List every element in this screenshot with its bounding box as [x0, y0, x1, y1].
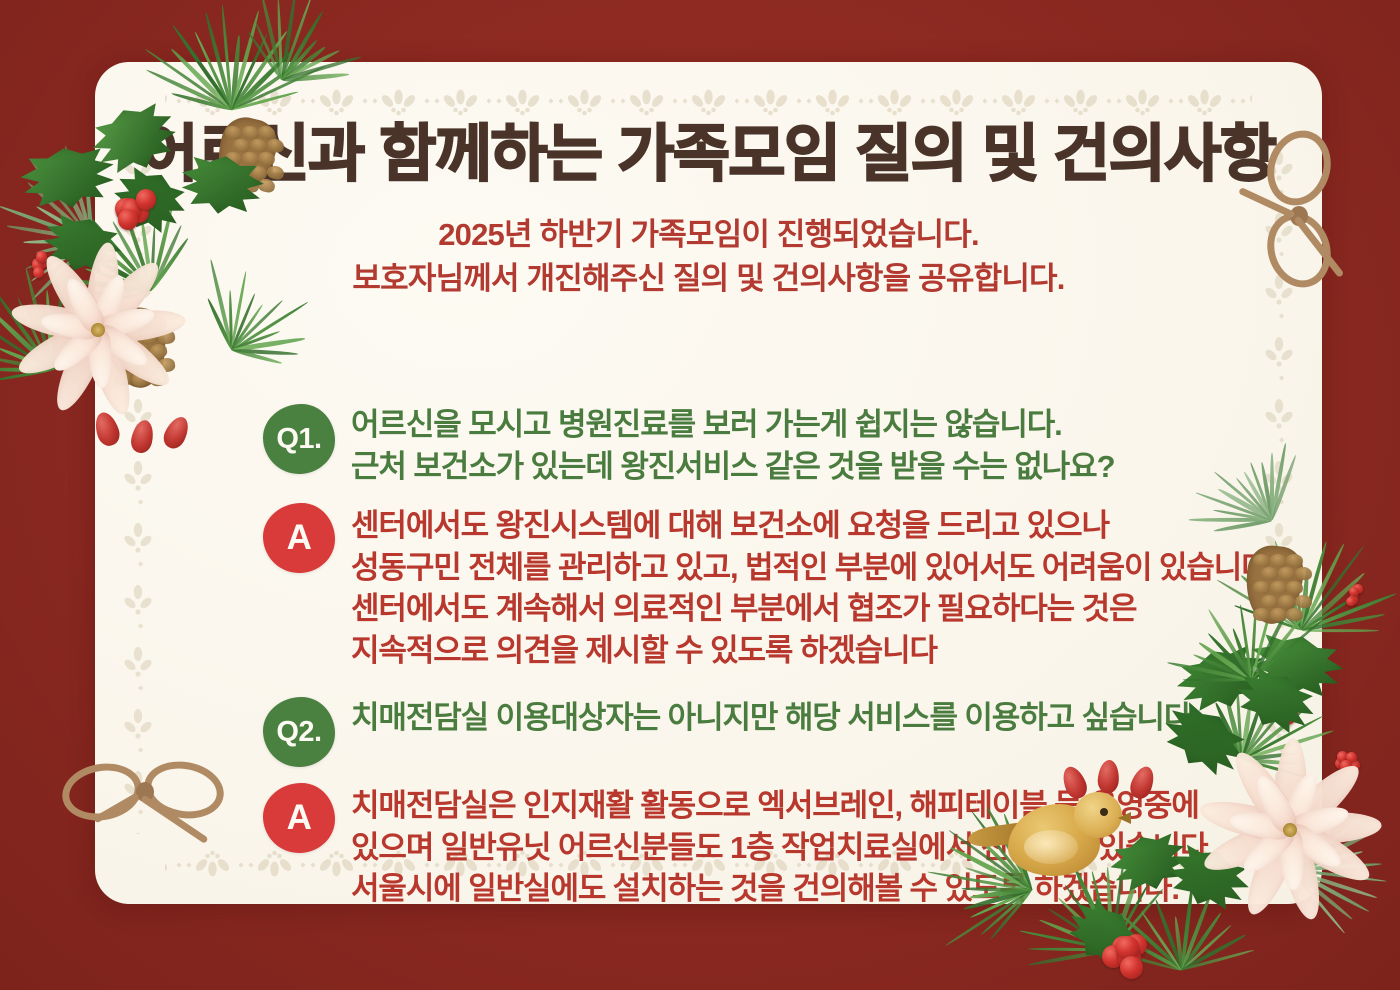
- pine-needle: [51, 317, 97, 372]
- content-card: 어르신과 함께하는 가족모임 질의 및 건의사항 2025년 하반기 가족모임이…: [95, 62, 1322, 904]
- qa-item-a1: A 센터에서도 왕진시스템에 대해 보건소에 요청을 드리고 있으나 성동구민 …: [263, 501, 1400, 671]
- pine-needle: [25, 239, 92, 270]
- holly-berry: [1118, 947, 1141, 970]
- pine-needle: [50, 276, 65, 370]
- pine-needle: [0, 308, 54, 372]
- pine-needle: [23, 238, 92, 244]
- pine-needle: [50, 299, 91, 371]
- pine-needle: [0, 356, 52, 372]
- poinsettia-petal: [9, 297, 101, 344]
- poster-root: 어르신과 함께하는 가족모임 질의 및 건의사항 2025년 하반기 가족모임이…: [0, 0, 1400, 990]
- pine-needle: [0, 204, 93, 241]
- qa-line: 센터에서도 왕진시스템에 대해 보건소에 요청을 드리고 있으나: [351, 505, 1400, 547]
- pine-needle: [63, 145, 94, 240]
- pine-needle: [36, 238, 93, 255]
- pine-needle: [50, 298, 75, 370]
- holly-berry: [1116, 936, 1139, 959]
- holly-berry: [1102, 945, 1125, 968]
- holly-berry: [34, 259, 45, 270]
- pine-needle: [1134, 942, 1183, 972]
- badge-a2: A: [263, 783, 335, 853]
- pine-needle: [1181, 934, 1247, 972]
- pine-needle: [36, 205, 94, 242]
- pine-needle: [84, 169, 94, 241]
- pine-needle: [7, 225, 92, 242]
- qa-item-q1: Q1. 어르신을 모시고 병원진료를 보러 가는게 쉽지는 않습니다. 근처 보…: [263, 400, 1400, 487]
- qa-line: 지속적으로 의견을 제시할 수 있도록 하겠습니다: [351, 630, 1400, 672]
- pine-needle: [16, 297, 53, 371]
- qa-text-q1: 어르신을 모시고 병원진료를 보러 가는게 쉽지는 않습니다. 근처 보건소가 …: [351, 400, 1400, 487]
- badge-a1: A: [263, 503, 335, 573]
- qa-line: 근처 보건소가 있는데 왕진서비스 같은 것을 받을 수는 없나요?: [351, 446, 1400, 488]
- qa-text-q2: 치매전담실 이용대상자는 아니지만 해당 서비스를 이용하고 싶습니다.: [351, 693, 1400, 739]
- subtitle: 2025년 하반기 가족모임이 진행되었습니다. 보호자님께서 개진해주신 질의…: [95, 213, 1322, 301]
- pine-needle: [30, 239, 92, 283]
- qa-line: 성동구민 전체를 관리하고 있고, 법적인 부분에 있어서도 어려움이 있습니다: [351, 547, 1400, 589]
- qa-line: 있으며 일반유닛 어르신분들도 1층 작업치료실에서 진행하고 있습니다.: [351, 827, 1400, 869]
- holly-berry: [36, 251, 47, 262]
- border-fleuron-top: [165, 86, 1252, 120]
- pine-needle: [1181, 949, 1254, 972]
- pine-needle: [24, 268, 53, 371]
- poinsettia-petal-inner: [39, 309, 100, 341]
- pine-needle: [29, 159, 93, 241]
- holly-berry: [1120, 956, 1143, 979]
- pine-needle: [0, 314, 53, 371]
- badge-q1: Q1.: [263, 404, 335, 474]
- pine-needle: [1028, 947, 1112, 951]
- pine-needle: [0, 367, 52, 372]
- pine-needle: [0, 345, 53, 371]
- qa-line: 치매전담실 이용대상자는 아니지만 해당 서비스를 이용하고 싶습니다.: [351, 697, 1400, 739]
- badge-q2: Q2.: [263, 697, 335, 767]
- holly-berry: [1117, 940, 1140, 963]
- qa-text-a1: 센터에서도 왕진시스템에 대해 보건소에 요청을 드리고 있으나 성동구민 전체…: [351, 501, 1400, 671]
- pine-needle: [0, 289, 54, 371]
- qa-line: 서울시에 일반실에도 설치하는 것을 건의해볼 수 있도록 하겠습니다.: [351, 868, 1400, 910]
- holly-berry: [32, 259, 43, 270]
- qa-line: 어르신을 모시고 병원진료를 보러 가는게 쉽지는 않습니다.: [351, 404, 1400, 446]
- pine-needle: [1091, 944, 1182, 971]
- pine-needle: [0, 368, 52, 382]
- pine-needle: [27, 182, 93, 242]
- holly-berry: [1118, 940, 1141, 963]
- qa-line: 센터에서도 계속해서 의료적인 부분에서 협조가 필요하다는 것은: [351, 588, 1400, 630]
- holly-berry: [33, 267, 44, 278]
- header: 어르신과 함께하는 가족모임 질의 및 건의사항 2025년 하반기 가족모임이…: [95, 122, 1322, 301]
- pine-needle: [1028, 948, 1112, 967]
- qa-line: 치매전담실은 인지재활 활동으로 엑서브레인, 해피테이블 등 운영중에: [351, 785, 1400, 827]
- pine-needle: [31, 239, 93, 301]
- qa-item-q2: Q2. 치매전담실 이용대상자는 아니지만 해당 서비스를 이용하고 싶습니다.: [263, 693, 1400, 767]
- page-title: 어르신과 함께하는 가족모임 질의 및 건의사항: [95, 122, 1322, 187]
- qa-item-a2: A 치매전담실은 인지재활 활동으로 엑서브레인, 해피테이블 등 운영중에 있…: [263, 781, 1400, 910]
- holly-berry: [32, 258, 43, 269]
- qa-list: Q1. 어르신을 모시고 병원진료를 보러 가는게 쉽지는 않습니다. 근처 보…: [263, 400, 1400, 932]
- pine-needle: [45, 290, 54, 370]
- pine-needle: [1019, 930, 1111, 952]
- holly-berry: [1112, 936, 1135, 959]
- qa-text-a2: 치매전담실은 인지재활 활동으로 엑서브레인, 해피테이블 등 운영중에 있으며…: [351, 781, 1400, 910]
- holly-berry: [1125, 934, 1148, 957]
- subtitle-line-1: 2025년 하반기 가족모임이 진행되었습니다.: [95, 213, 1322, 257]
- poinsettia-petal: [13, 317, 105, 383]
- pine-needle: [56, 171, 94, 241]
- subtitle-line-2: 보호자님께서 개진해주신 질의 및 건의사항을 공유합니다.: [95, 257, 1322, 301]
